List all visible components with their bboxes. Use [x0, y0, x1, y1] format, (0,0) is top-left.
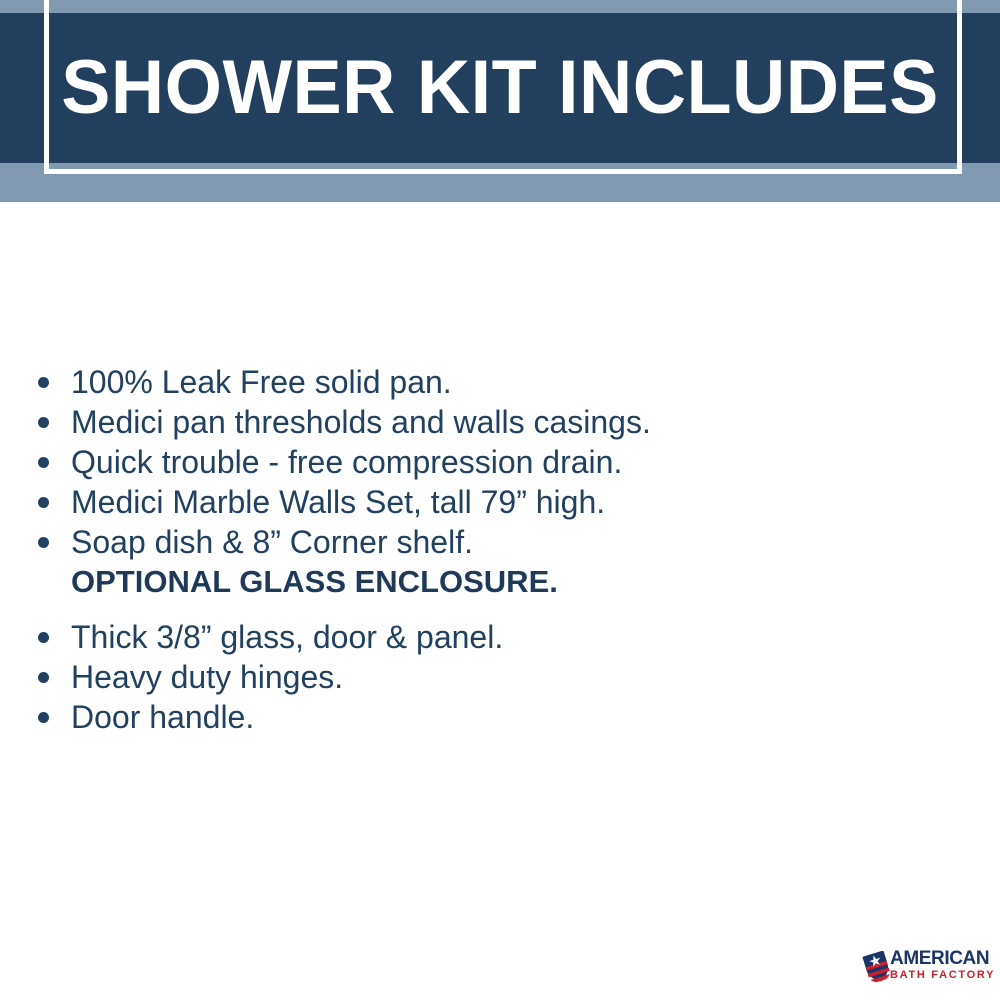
header-banner: SHOWER KIT INCLUDES	[0, 0, 1000, 202]
shield-star-icon	[862, 951, 892, 984]
optional-glass-enclosure-heading: OPTIONAL GLASS ENCLOSURE.	[36, 562, 936, 602]
list-group-spacer	[36, 602, 936, 617]
logo-wordmark: AMERICAN BATH FACTORY	[890, 948, 990, 982]
primary-features-list: 100% Leak Free solid pan. Medici pan thr…	[36, 362, 936, 562]
optional-features-list: Thick 3/8” glass, door & panel. Heavy du…	[36, 617, 936, 737]
logo-word-bath-factory: BATH FACTORY	[890, 969, 990, 982]
list-item: Soap dish & 8” Corner shelf.	[36, 522, 936, 562]
list-item: Door handle.	[36, 697, 936, 737]
list-item: Thick 3/8” glass, door & panel.	[36, 617, 936, 657]
list-item: Medici Marble Walls Set, tall 79” high.	[36, 482, 936, 522]
list-item: Quick trouble - free compression drain.	[36, 442, 936, 482]
list-item: Heavy duty hinges.	[36, 657, 936, 697]
brand-logo: AMERICAN BATH FACTORY	[862, 948, 990, 988]
kit-contents-section: 100% Leak Free solid pan. Medici pan thr…	[36, 362, 936, 737]
list-item: Medici pan thresholds and walls casings.	[36, 402, 936, 442]
logo-word-american: AMERICAN	[890, 948, 990, 969]
list-item: 100% Leak Free solid pan.	[36, 362, 936, 402]
page-title: SHOWER KIT INCLUDES	[15, 13, 985, 163]
